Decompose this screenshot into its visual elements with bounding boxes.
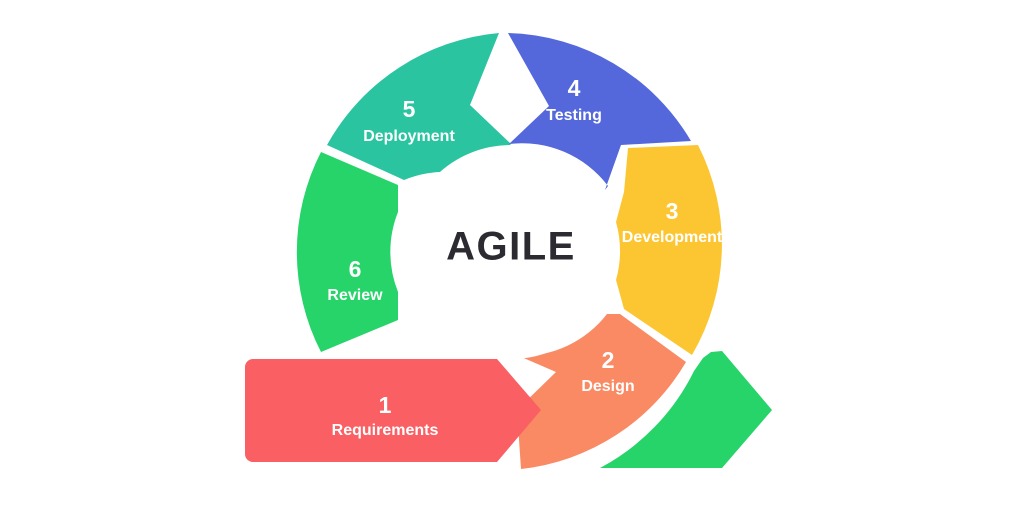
agile-cycle-diagram: 6 Review 5 Deployment 4 Testing 3 Develo… bbox=[0, 0, 1024, 505]
center-title: AGILE bbox=[446, 225, 576, 269]
agile-diagram-canvas: 6 Review 5 Deployment 4 Testing 3 Develo… bbox=[0, 0, 1024, 505]
segment-label-deployment: Deployment bbox=[363, 128, 455, 145]
segment-number-review: 6 bbox=[349, 256, 362, 282]
diagram-segment-review[interactable]: 6 Review bbox=[297, 152, 398, 352]
diagram-segment-requirements[interactable]: 1 Requirements bbox=[245, 359, 541, 462]
segment-shape-review[interactable] bbox=[297, 152, 398, 352]
segment-label-requirements: Requirements bbox=[332, 422, 439, 439]
segment-number-deployment: 5 bbox=[403, 96, 416, 122]
segment-label-design: Design bbox=[581, 378, 634, 395]
segment-label-review: Review bbox=[327, 287, 383, 304]
segment-label-testing: Testing bbox=[546, 107, 602, 124]
segment-number-design: 2 bbox=[602, 347, 615, 373]
segment-number-development: 3 bbox=[666, 198, 679, 224]
segment-label-development: Development bbox=[622, 229, 723, 246]
segment-shape-requirements[interactable] bbox=[245, 359, 541, 462]
diagram-center-hub: AGILE bbox=[404, 145, 618, 359]
segment-number-requirements: 1 bbox=[379, 392, 392, 418]
segment-number-testing: 4 bbox=[568, 75, 581, 101]
